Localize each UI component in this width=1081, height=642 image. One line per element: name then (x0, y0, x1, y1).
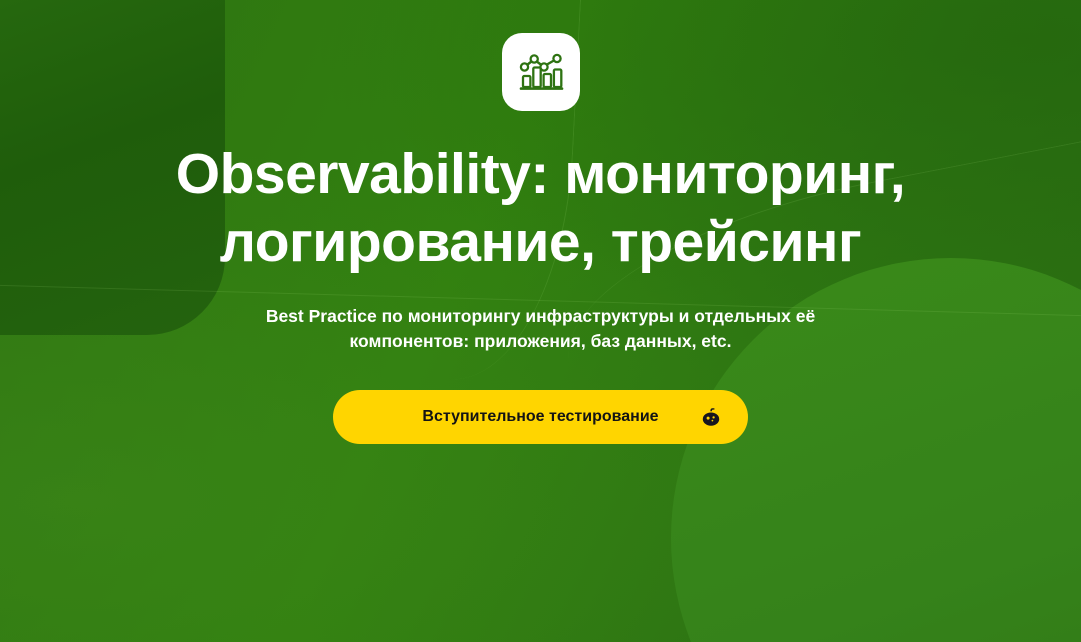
page-subtitle: Best Practice по мониторингу инфраструкт… (221, 304, 861, 354)
hero-section: Observability: мониторинг, логирование, … (0, 0, 1081, 642)
entrance-test-button[interactable]: Вступительное тестирование (333, 390, 748, 444)
pumpkin-icon (698, 404, 724, 430)
entrance-test-button-label: Вступительное тестирование (422, 408, 658, 426)
page-title: Observability: мониторинг, логирование, … (161, 140, 921, 276)
bar-chart-line-icon (518, 50, 564, 94)
logo-badge (502, 33, 580, 111)
hero-content: Observability: мониторинг, логирование, … (0, 0, 1081, 642)
